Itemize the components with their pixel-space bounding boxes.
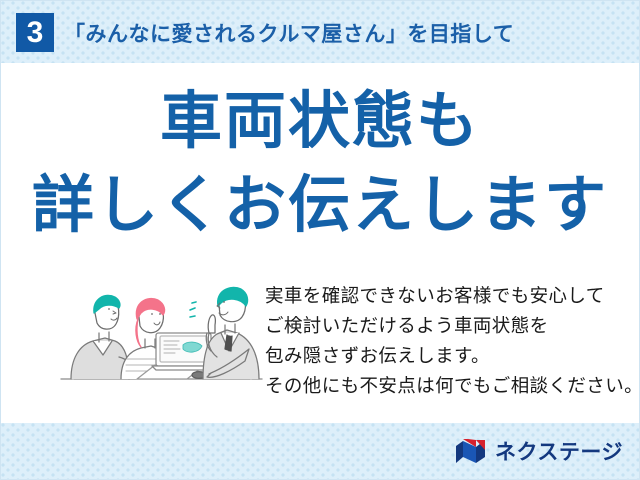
body-line-4: その他にも不安点は何でもご相談ください。 bbox=[265, 371, 625, 401]
section-number-badge: 3 bbox=[16, 13, 54, 52]
body-line-3: 包み隠さずお伝えします。 bbox=[265, 341, 625, 371]
body-line-2: ご検討いただけるよう車両状態を bbox=[265, 311, 625, 341]
nextage-logo: ネクステージ bbox=[454, 436, 623, 466]
body-copy: 実車を確認できないお客様でも安心して ご検討いただけるよう車両状態を 包み隠さず… bbox=[265, 281, 625, 401]
illustration-staff bbox=[203, 287, 259, 379]
illustration-sparkles bbox=[190, 302, 196, 317]
body-line-1: 実車を確認できないお客様でも安心して bbox=[265, 281, 625, 311]
headline-line-2: 詳しくお伝えします bbox=[1, 175, 639, 237]
nextage-logo-text: ネクステージ bbox=[495, 436, 623, 466]
header-band: 3 「みんなに愛されるクルマ屋さん」を目指して bbox=[1, 1, 639, 63]
headline-line-1: 車両状態も bbox=[1, 91, 639, 153]
consultation-illustration bbox=[59, 275, 264, 395]
main-content: 車両状態も 詳しくお伝えします bbox=[1, 63, 639, 423]
header-title: 「みんなに愛されるクルマ屋さん」を目指して bbox=[64, 13, 514, 52]
promo-banner: 3 「みんなに愛されるクルマ屋さん」を目指して 車両状態も 詳しくお伝えします bbox=[0, 0, 640, 480]
footer-band: ネクステージ bbox=[1, 423, 639, 479]
nextage-logo-mark bbox=[454, 438, 488, 465]
